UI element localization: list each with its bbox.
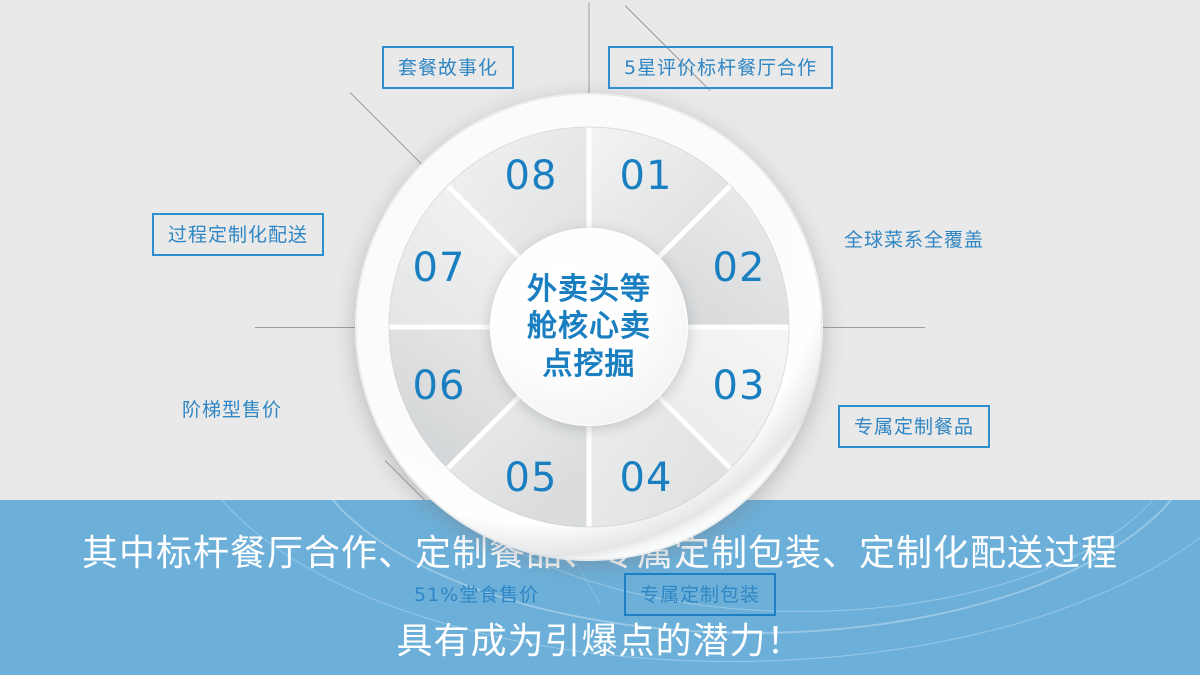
callout-label-05[interactable]: 51%堂食售价 [412,576,541,611]
segment-number-08: 08 [505,153,558,199]
segment-number-01: 01 [620,153,673,199]
segmented-donut-chart: 01 02 03 04 05 06 07 08 外卖头等 舱核心卖 点挖掘 [355,93,823,561]
center-hub-text: 外卖头等 舱核心卖 点挖掘 [527,271,651,383]
center-title-line-3: 点挖掘 [527,346,651,383]
callout-label-01[interactable]: 5星评价标杆餐厅合作 [608,46,833,89]
segment-number-06: 06 [413,363,466,409]
segment-number-04: 04 [620,455,673,501]
center-title-line-1: 外卖头等 [527,271,651,308]
callout-label-07[interactable]: 过程定制化配送 [152,213,324,256]
slide-canvas: 其中标杆餐厅合作、定制餐品、专属定制包装、定制化配送过程 具有成为引爆点的潜力！ [0,0,1200,675]
center-title-line-2: 舱核心卖 [527,308,651,345]
callout-label-03[interactable]: 专属定制餐品 [838,405,990,448]
connector-line-01 [589,3,590,95]
segment-number-03: 03 [713,363,766,409]
segment-number-07: 07 [413,245,466,291]
callout-label-04[interactable]: 专属定制包装 [624,573,776,616]
center-hub: 外卖头等 舱核心卖 点挖掘 [490,228,688,426]
segment-number-02: 02 [713,245,766,291]
segment-number-05: 05 [505,455,558,501]
callout-label-08[interactable]: 套餐故事化 [382,46,514,89]
callout-label-02[interactable]: 全球菜系全覆盖 [842,221,986,256]
banner-text-line-2: 具有成为引爆点的潜力！ [0,612,1200,664]
callout-label-06[interactable]: 阶梯型售价 [180,391,284,426]
